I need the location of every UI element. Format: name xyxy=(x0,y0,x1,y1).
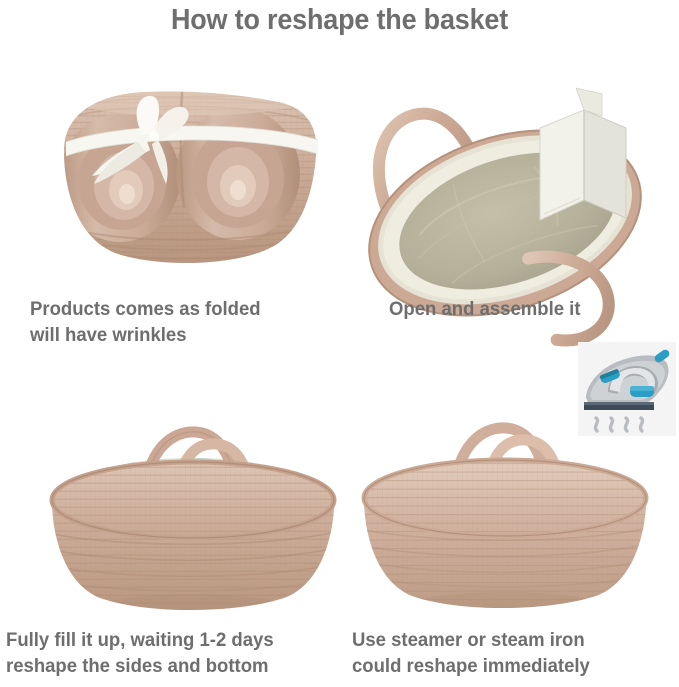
step-2-image xyxy=(340,58,675,288)
instruction-page: How to reshape the basket xyxy=(0,0,679,687)
step-4-caption: Use steamer or steam iron could reshape … xyxy=(352,627,590,679)
rolled-basket-body xyxy=(42,58,332,293)
step-3-image: Aveeno xyxy=(38,388,348,623)
step-3-caption: Fully fill it up, waiting 1-2 days resha… xyxy=(6,627,274,679)
page-title: How to reshape the basket xyxy=(24,4,655,37)
step-1-image xyxy=(42,58,332,293)
divider-panels xyxy=(540,88,626,220)
step-1-caption: Products comes as folded will have wrink… xyxy=(30,296,261,348)
steam-iron-icon xyxy=(578,342,676,436)
step-2-caption: Open and assemble it xyxy=(389,296,580,322)
